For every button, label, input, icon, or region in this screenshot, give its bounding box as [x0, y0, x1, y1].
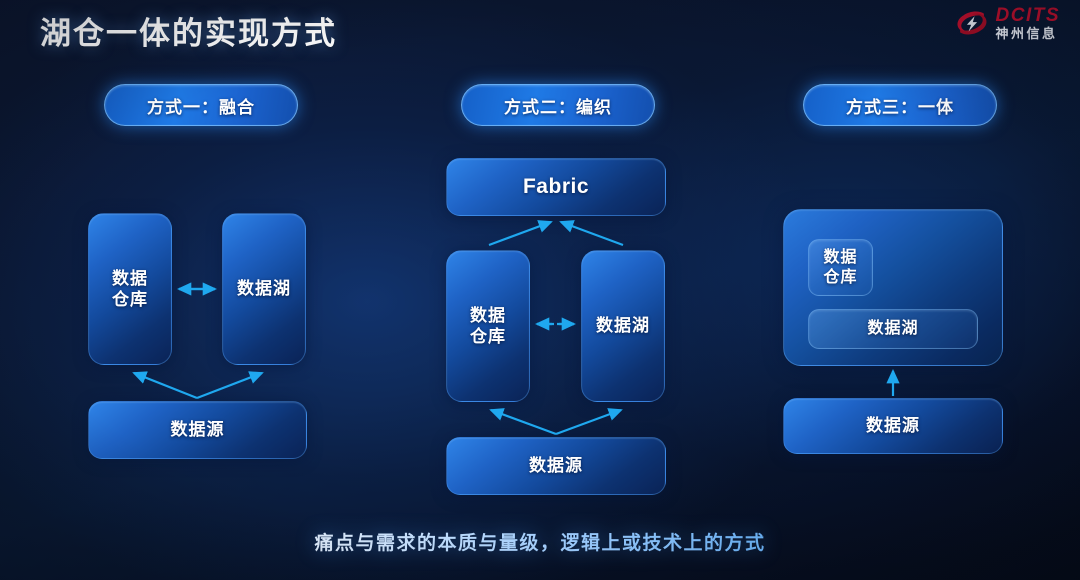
c2-dw-line1: 数据: [470, 305, 506, 326]
c2-data-source-label: 数据源: [529, 455, 583, 476]
dcits-swoosh-icon: [955, 6, 989, 40]
c2-arrow-lake-to-fabric: [561, 222, 623, 245]
c3-data-source-box[interactable]: 数据源: [783, 398, 1003, 454]
c3-dw-line1: 数据: [823, 248, 857, 268]
c2-arrow-source-to-lake: [556, 410, 621, 434]
pill-approach-1[interactable]: 方式一：融合: [104, 84, 298, 126]
c2-data-lake-box[interactable]: 数据湖: [581, 250, 665, 402]
c3-data-warehouse-label: 数据 仓库: [823, 248, 857, 288]
footer-caption: 痛点与需求的本质与量级，逻辑上或技术上的方式: [0, 528, 1080, 555]
c1-arrow-source-to-warehouse: [134, 373, 197, 398]
c3-data-lake-box[interactable]: 数据湖: [808, 309, 978, 349]
c1-dw-line1: 数据: [112, 268, 148, 289]
c3-data-source-label: 数据源: [866, 415, 920, 436]
c2-data-source-box[interactable]: 数据源: [446, 437, 666, 495]
c1-data-source-box[interactable]: 数据源: [88, 401, 307, 459]
c1-data-source-label: 数据源: [171, 419, 225, 440]
c1-data-warehouse-box[interactable]: 数据 仓库: [88, 213, 172, 365]
brand-logo: DCITS 神州信息: [955, 6, 1061, 40]
c3-dw-line2: 仓库: [823, 268, 857, 288]
c2-fabric-label: Fabric: [523, 174, 589, 200]
c2-fabric-box[interactable]: Fabric: [446, 158, 666, 216]
logo-cn-label: 神州信息: [996, 27, 1061, 40]
logo-text: DCITS 神州信息: [996, 6, 1061, 40]
c2-arrow-warehouse-to-fabric: [489, 222, 551, 245]
c2-data-lake-label: 数据湖: [596, 315, 650, 336]
pill-approach-3[interactable]: 方式三：一体: [803, 84, 997, 126]
c1-data-lake-label: 数据湖: [237, 278, 291, 299]
c2-data-warehouse-box[interactable]: 数据 仓库: [446, 250, 530, 402]
c3-data-lake-label: 数据湖: [867, 319, 918, 339]
c2-dw-line2: 仓库: [470, 326, 506, 347]
c2-data-warehouse-label: 数据 仓库: [470, 305, 506, 348]
logo-en-label: DCITS: [996, 6, 1061, 25]
slide-root: 湖仓一体的实现方式 DCITS 神州信息 方式一：融合 方式二：编织 方式三：一…: [0, 0, 1080, 580]
page-title: 湖仓一体的实现方式: [40, 8, 337, 53]
c1-arrow-source-to-lake: [197, 373, 262, 398]
c1-data-lake-box[interactable]: 数据湖: [222, 213, 306, 365]
c1-dw-line2: 仓库: [112, 289, 148, 310]
pill-approach-2[interactable]: 方式二：编织: [461, 84, 655, 126]
c1-data-warehouse-label: 数据 仓库: [112, 268, 148, 311]
c2-arrow-source-to-warehouse: [491, 410, 556, 434]
c3-data-warehouse-box[interactable]: 数据 仓库: [808, 239, 873, 296]
